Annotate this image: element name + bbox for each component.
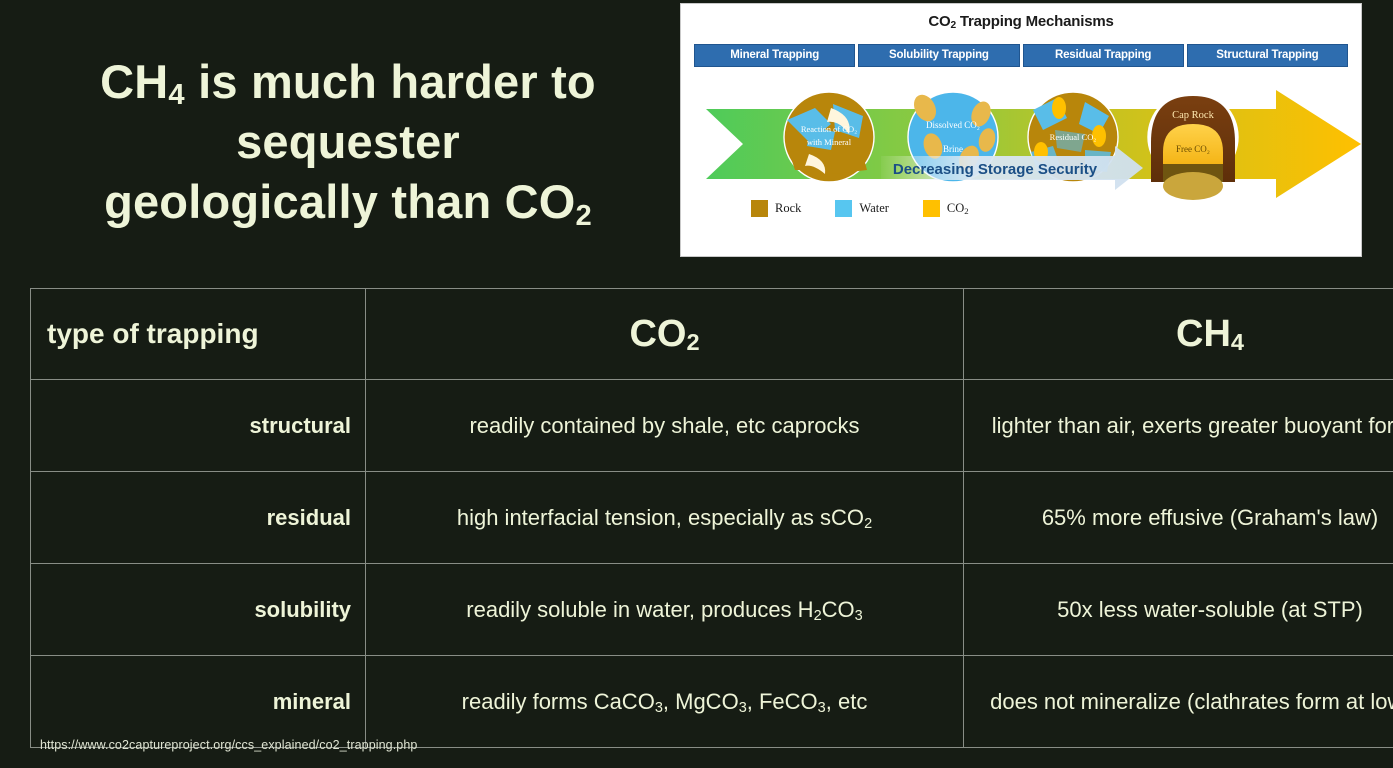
label-mineral-trapping: Mineral Trapping — [694, 44, 855, 67]
page-title-line-3: geologically than CO2 — [28, 172, 668, 232]
column-header-type: type of trapping — [31, 289, 366, 380]
circle-structural-caption-1: Cap Rock — [1172, 110, 1214, 121]
column-header-ch4: CH4 — [964, 289, 1393, 380]
cell-co2-mineral: readily forms CaCO3, MgCO3, FeCO3, etc — [366, 656, 964, 748]
circle-solubility-caption-1: Dissolved CO₂ — [926, 120, 980, 130]
circle-mineral-caption-1: Reaction of CO₂ — [801, 124, 857, 134]
label-residual-trapping: Residual Trapping — [1023, 44, 1184, 67]
column-header-co2: CO2 — [366, 289, 964, 380]
subscript-2: 2 — [864, 516, 872, 532]
subscript-3: 3 — [855, 608, 863, 624]
subscript-2: 2 — [576, 200, 592, 232]
diagram-legend: Rock Water CO2 — [751, 200, 969, 217]
trapping-comparison-table: type of trapping CO2 CH4 structural read… — [30, 288, 1393, 748]
legend-co2-subscript: 2 — [964, 206, 968, 216]
table-header-row: type of trapping CO2 CH4 — [31, 289, 1393, 380]
diagram-title: CO2 Trapping Mechanisms — [681, 13, 1361, 30]
trapping-label-row: Mineral Trapping Solubility Trapping Res… — [694, 44, 1348, 67]
storage-security-arrow-band: Reaction of CO₂ with Mineral Dissolved C… — [681, 90, 1361, 225]
legend-item-water: Water — [835, 200, 889, 217]
cell-ch4-structural: lighter than air, exerts greater buoyant… — [964, 380, 1393, 472]
cell-co2-residual: high interfacial tension, especially as … — [366, 472, 964, 564]
page-title: CH4 is much harder to sequester geologic… — [28, 52, 668, 232]
label-solubility-trapping: Solubility Trapping — [858, 44, 1019, 67]
subscript-3: 3 — [739, 700, 747, 716]
table-row: residual high interfacial tension, espec… — [31, 472, 1393, 564]
cell-ch4-solubility: 50x less water-soluble (at STP) — [964, 564, 1393, 656]
cell-type-mineral: mineral — [31, 656, 366, 748]
table-row: mineral readily forms CaCO3, MgCO3, FeCO… — [31, 656, 1393, 748]
circle-structural-caption-2: Free CO₂ — [1176, 144, 1210, 154]
table-header: type of trapping CO2 CH4 — [31, 289, 1393, 380]
legend-swatch-co2 — [923, 200, 940, 217]
cell-ch4-residual: 65% more effusive (Graham's law) — [964, 472, 1393, 564]
subscript-4: 4 — [168, 79, 184, 111]
legend-item-co2: CO2 — [923, 200, 969, 217]
arrow-caption-text: Decreasing Storage Security — [893, 161, 1098, 178]
subscript-2: 2 — [814, 608, 822, 624]
legend-item-rock: Rock — [751, 200, 801, 217]
table-row: structural readily contained by shale, e… — [31, 380, 1393, 472]
cell-co2-structural: readily contained by shale, etc caprocks — [366, 380, 964, 472]
circle-residual-caption: Residual CO₂ — [1050, 132, 1097, 142]
page-title-line-2: sequester — [28, 112, 668, 172]
cell-type-residual: residual — [31, 472, 366, 564]
source-url: https://www.co2captureproject.org/ccs_ex… — [40, 738, 417, 752]
cell-ch4-mineral: does not mineralize (clathrates form at … — [964, 656, 1393, 748]
legend-swatch-rock — [751, 200, 768, 217]
table-body: structural readily contained by shale, e… — [31, 380, 1393, 748]
column-header-ch4-subscript: 4 — [1231, 329, 1244, 355]
column-header-co2-subscript: 2 — [686, 329, 699, 355]
legend-swatch-water — [835, 200, 852, 217]
circle-mineral-caption-2: with Mineral — [807, 137, 852, 147]
slide-root: CH4 is much harder to sequester geologic… — [0, 0, 1393, 768]
co2-trapping-diagram: CO2 Trapping Mechanisms Mineral Trapping… — [680, 3, 1362, 257]
circle-mineral-trapping: Reaction of CO₂ with Mineral — [784, 92, 874, 182]
circle-solubility-caption-2: Brine — [943, 144, 963, 154]
legend-label-water: Water — [859, 201, 889, 216]
table-row: solubility readily soluble in water, pro… — [31, 564, 1393, 656]
label-structural-trapping: Structural Trapping — [1187, 44, 1348, 67]
cell-co2-solubility: readily soluble in water, produces H2CO3 — [366, 564, 964, 656]
subscript-3: 3 — [818, 700, 826, 716]
legend-label-co2: CO2 — [947, 201, 969, 216]
page-title-line-1: CH4 is much harder to — [28, 52, 668, 112]
legend-label-rock: Rock — [775, 201, 801, 216]
cell-type-solubility: solubility — [31, 564, 366, 656]
circle-structural-trapping: Cap Rock Free CO₂ — [1148, 92, 1238, 200]
subscript-3: 3 — [655, 700, 663, 716]
diagram-title-subscript: 2 — [950, 20, 955, 31]
cell-type-structural: structural — [31, 380, 366, 472]
